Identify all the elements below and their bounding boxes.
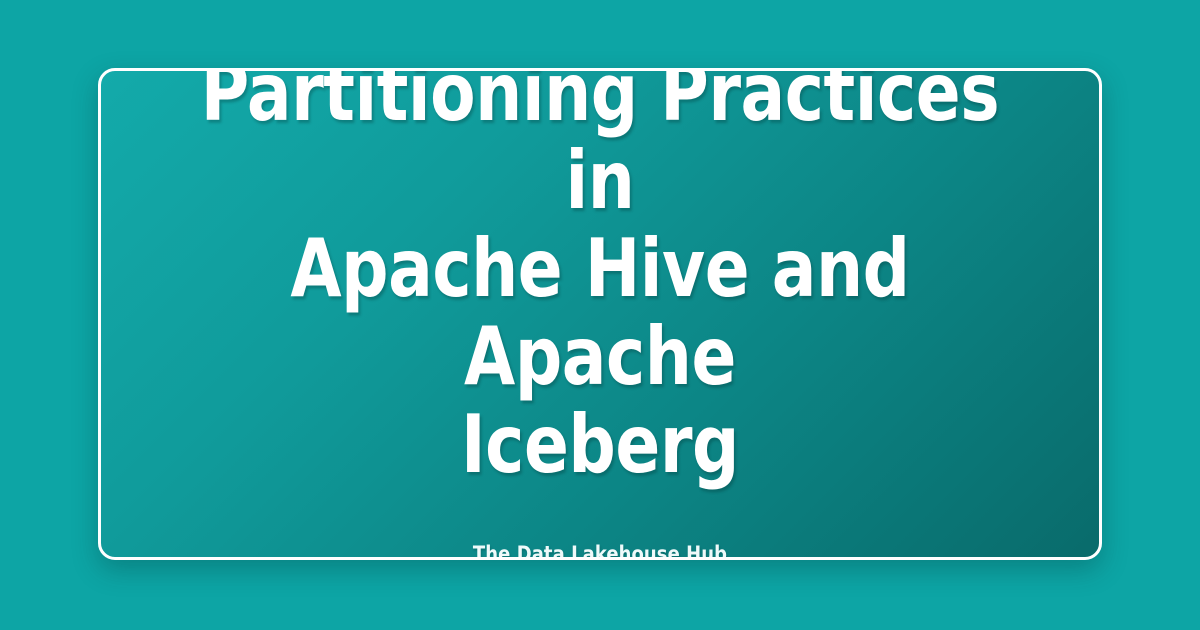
social-card-canvas: Partitioning Practices in Apache Hive an… [0, 0, 1200, 630]
title-card: Partitioning Practices in Apache Hive an… [98, 68, 1102, 560]
card-content: Partitioning Practices in Apache Hive an… [147, 68, 1053, 560]
site-name-subtitle: The Data Lakehouse Hub [170, 541, 1031, 560]
page-title: Partitioning Practices in Apache Hive an… [183, 68, 1017, 489]
